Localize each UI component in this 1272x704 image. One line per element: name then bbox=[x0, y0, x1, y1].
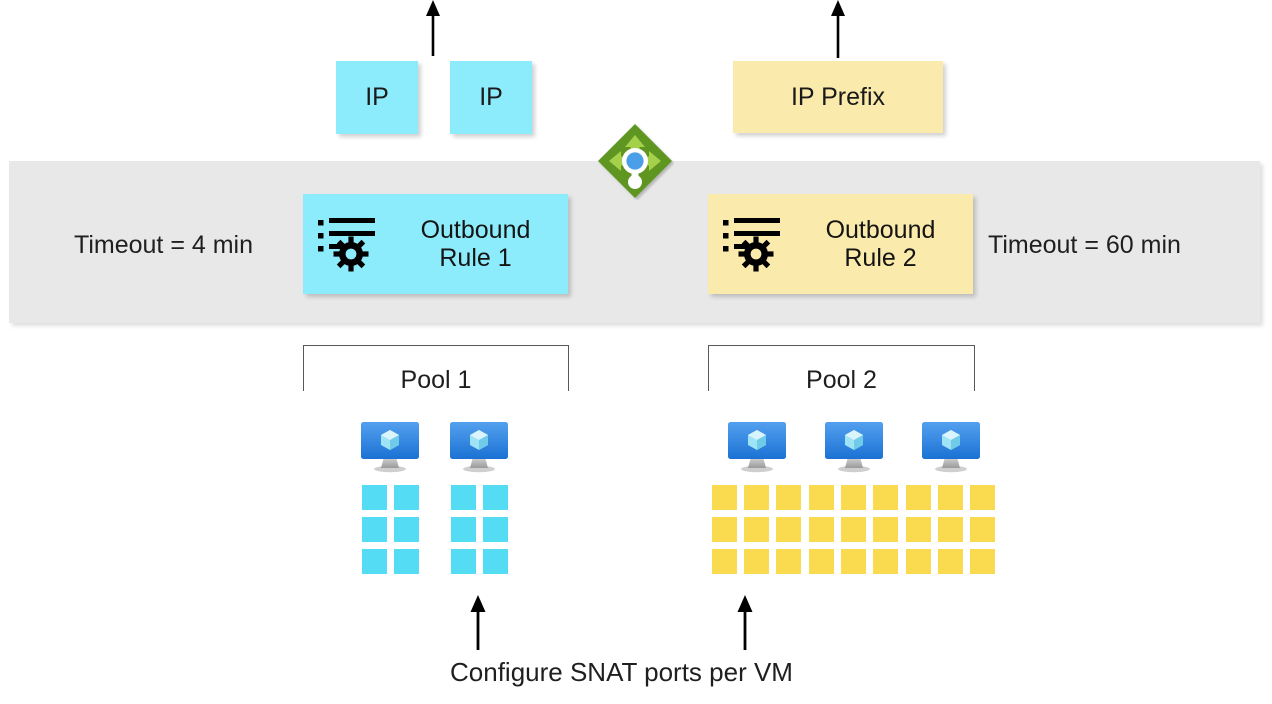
frontend-ip-prefix-box[interactable]: IP Prefix bbox=[733, 61, 943, 133]
outbound-rule-1-label-line1: Outbound bbox=[389, 216, 562, 244]
rule-settings-icon bbox=[722, 214, 788, 274]
load-balancer-icon bbox=[596, 122, 674, 200]
snat-port bbox=[906, 549, 931, 574]
egress-arrow-ip bbox=[418, 0, 448, 56]
frontend-ip-label-2: IP bbox=[479, 83, 503, 112]
snat-port bbox=[938, 517, 963, 542]
snat-caption: Configure SNAT ports per VM bbox=[450, 657, 793, 688]
snat-port-grid bbox=[712, 485, 801, 574]
snat-port bbox=[744, 517, 769, 542]
snat-port bbox=[938, 549, 963, 574]
virtual-machine-icon bbox=[358, 421, 422, 473]
outbound-rule-2-label: Outbound Rule 2 bbox=[794, 216, 973, 272]
snat-port bbox=[483, 485, 508, 510]
snat-port bbox=[809, 517, 834, 542]
rule-settings-icon bbox=[317, 214, 383, 274]
snat-port bbox=[873, 517, 898, 542]
virtual-machine-icon bbox=[725, 421, 789, 473]
snat-port bbox=[744, 485, 769, 510]
snat-port bbox=[451, 485, 476, 510]
timeout-label-rule-2: Timeout = 60 min bbox=[988, 231, 1181, 260]
snat-port bbox=[483, 549, 508, 574]
snat-port bbox=[394, 517, 419, 542]
snat-port bbox=[970, 517, 995, 542]
frontend-ip-box-2[interactable]: IP bbox=[450, 61, 532, 134]
snat-port bbox=[394, 549, 419, 574]
pool-1-bracket: Pool 1 bbox=[303, 345, 569, 391]
snat-port bbox=[809, 485, 834, 510]
snat-port bbox=[712, 517, 737, 542]
virtual-machine-icon bbox=[919, 421, 983, 473]
outbound-rule-1-label-line2: Rule 1 bbox=[389, 244, 562, 272]
snat-port bbox=[841, 517, 866, 542]
virtual-machine-icon bbox=[822, 421, 886, 473]
pool-2-bracket: Pool 2 bbox=[708, 345, 975, 391]
vm-node-pool-1-2[interactable] bbox=[447, 421, 511, 574]
snat-port bbox=[776, 549, 801, 574]
egress-arrow-ip-prefix bbox=[823, 0, 853, 58]
diagram-canvas: IP IP IP Prefix Timeout = 4 min bbox=[0, 0, 1272, 704]
vm-node-pool-2-1[interactable] bbox=[712, 421, 801, 574]
snat-port bbox=[906, 485, 931, 510]
snat-port bbox=[712, 485, 737, 510]
frontend-ip-label-1: IP bbox=[365, 83, 389, 112]
snat-port bbox=[776, 517, 801, 542]
vm-node-pool-2-3[interactable] bbox=[906, 421, 995, 574]
snat-port-grid bbox=[809, 485, 898, 574]
frontend-ip-prefix-label: IP Prefix bbox=[791, 83, 885, 112]
snat-port bbox=[451, 549, 476, 574]
snat-port bbox=[970, 549, 995, 574]
snat-port bbox=[873, 549, 898, 574]
snat-callout-arrow-pool-1 bbox=[464, 595, 492, 650]
outbound-rule-2-label-line1: Outbound bbox=[794, 216, 967, 244]
snat-callout-arrow-pool-2 bbox=[731, 595, 759, 650]
outbound-rule-2-box[interactable]: Outbound Rule 2 bbox=[708, 194, 973, 294]
snat-port bbox=[362, 517, 387, 542]
snat-port bbox=[809, 549, 834, 574]
virtual-machine-icon bbox=[447, 421, 511, 473]
outbound-rule-2-label-line2: Rule 2 bbox=[794, 244, 967, 272]
snat-port bbox=[970, 485, 995, 510]
snat-port bbox=[451, 517, 476, 542]
snat-port bbox=[776, 485, 801, 510]
outbound-rule-1-label: Outbound Rule 1 bbox=[389, 216, 568, 272]
snat-port-grid bbox=[451, 485, 508, 574]
snat-port-grid bbox=[362, 485, 419, 574]
snat-port bbox=[873, 485, 898, 510]
snat-port bbox=[906, 517, 931, 542]
snat-port-grid bbox=[906, 485, 995, 574]
snat-port bbox=[362, 485, 387, 510]
snat-port bbox=[841, 549, 866, 574]
frontend-ip-box-1[interactable]: IP bbox=[336, 61, 418, 134]
snat-port bbox=[712, 549, 737, 574]
snat-port bbox=[744, 549, 769, 574]
pool-2-label: Pool 2 bbox=[806, 366, 877, 395]
pool-1-label: Pool 1 bbox=[401, 366, 472, 395]
vm-node-pool-2-2[interactable] bbox=[809, 421, 898, 574]
snat-port bbox=[394, 485, 419, 510]
snat-port bbox=[938, 485, 963, 510]
vm-node-pool-1-1[interactable] bbox=[358, 421, 422, 574]
snat-port bbox=[362, 549, 387, 574]
snat-port bbox=[483, 517, 508, 542]
timeout-label-rule-1: Timeout = 4 min bbox=[74, 231, 253, 260]
outbound-rule-1-box[interactable]: Outbound Rule 1 bbox=[303, 194, 568, 294]
snat-port bbox=[841, 485, 866, 510]
